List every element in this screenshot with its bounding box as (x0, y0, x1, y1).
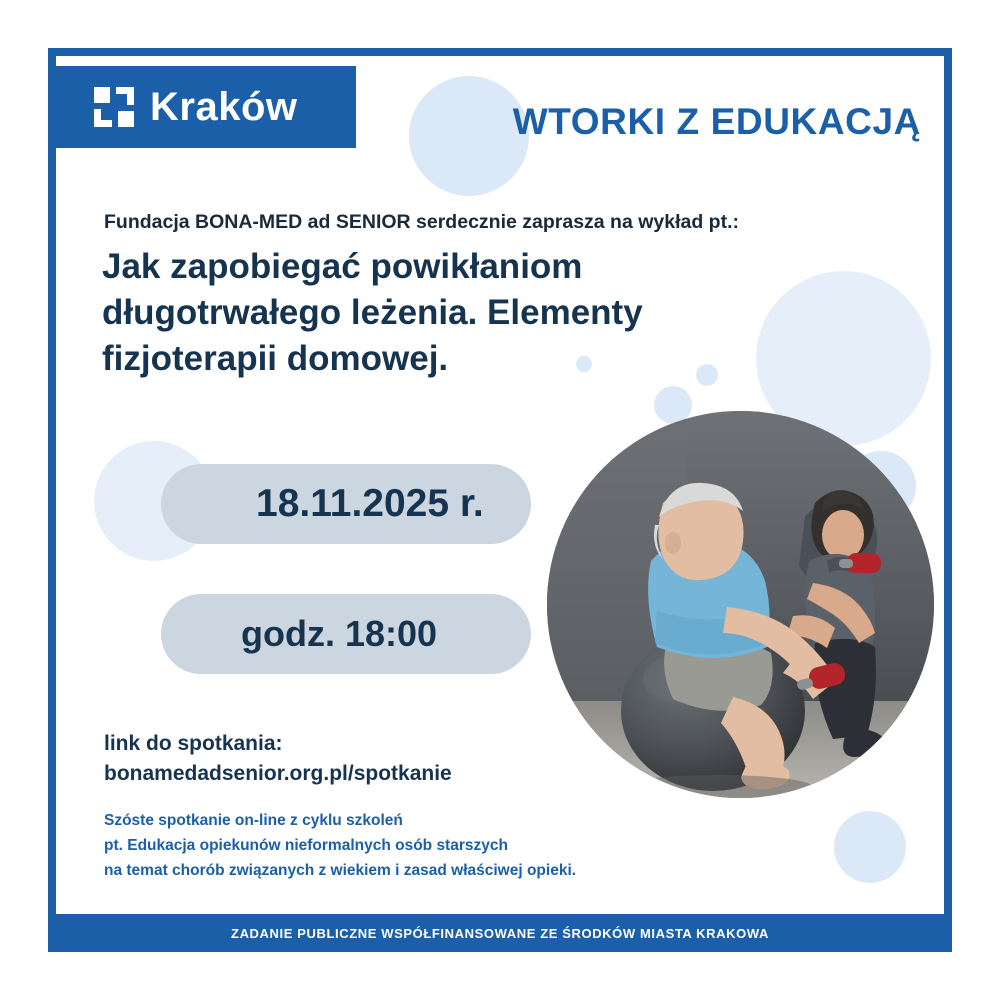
page-title: WTORKI Z EDUKACJĄ (451, 101, 921, 143)
decorative-bubble (834, 811, 906, 883)
krakow-logo-label: Kraków (150, 87, 298, 127)
senior-exercising-with-physiotherapist-photo (547, 411, 934, 798)
lecture-title-line-2: długotrwałego leżenia. Elementy (102, 290, 802, 336)
description-note-line-1: Szóste spotkanie on-line z cyklu szkoleń (104, 808, 704, 833)
description-note: Szóste spotkanie on-line z cyklu szkoleń… (104, 808, 704, 883)
event-time-badge: godz. 18:00 (161, 594, 531, 674)
description-note-line-2: pt. Edukacja opiekunów nieformalnych osó… (104, 833, 704, 858)
lecture-title-line-3: fizjoterapii domowej. (102, 336, 802, 382)
krakow-logo-icon (94, 87, 134, 127)
event-date-badge: 18.11.2025 r. (161, 464, 531, 544)
description-note-line-3: na temat chorób związanych z wiekiem i z… (104, 858, 704, 883)
meeting-link-label: link do spotkania: (104, 732, 283, 756)
poster: Kraków WTORKI Z EDUKACJĄ Fundacja BONA-M… (48, 48, 952, 952)
lecture-title: Jak zapobiegać powikłaniom długotrwałego… (102, 244, 802, 383)
intro-text: Fundacja BONA-MED ad SENIOR serdecznie z… (104, 211, 804, 234)
krakow-logo: Kraków (56, 66, 356, 148)
lecture-title-line-1: Jak zapobiegać powikłaniom (102, 244, 802, 290)
footer-note: ZADANIE PUBLICZNE WSPÓŁFINANSOWANE ZE ŚR… (48, 914, 952, 952)
meeting-link-url[interactable]: bonamedadsenior.org.pl/spotkanie (104, 762, 452, 786)
poster-inner: Kraków WTORKI Z EDUKACJĄ Fundacja BONA-M… (56, 56, 944, 914)
